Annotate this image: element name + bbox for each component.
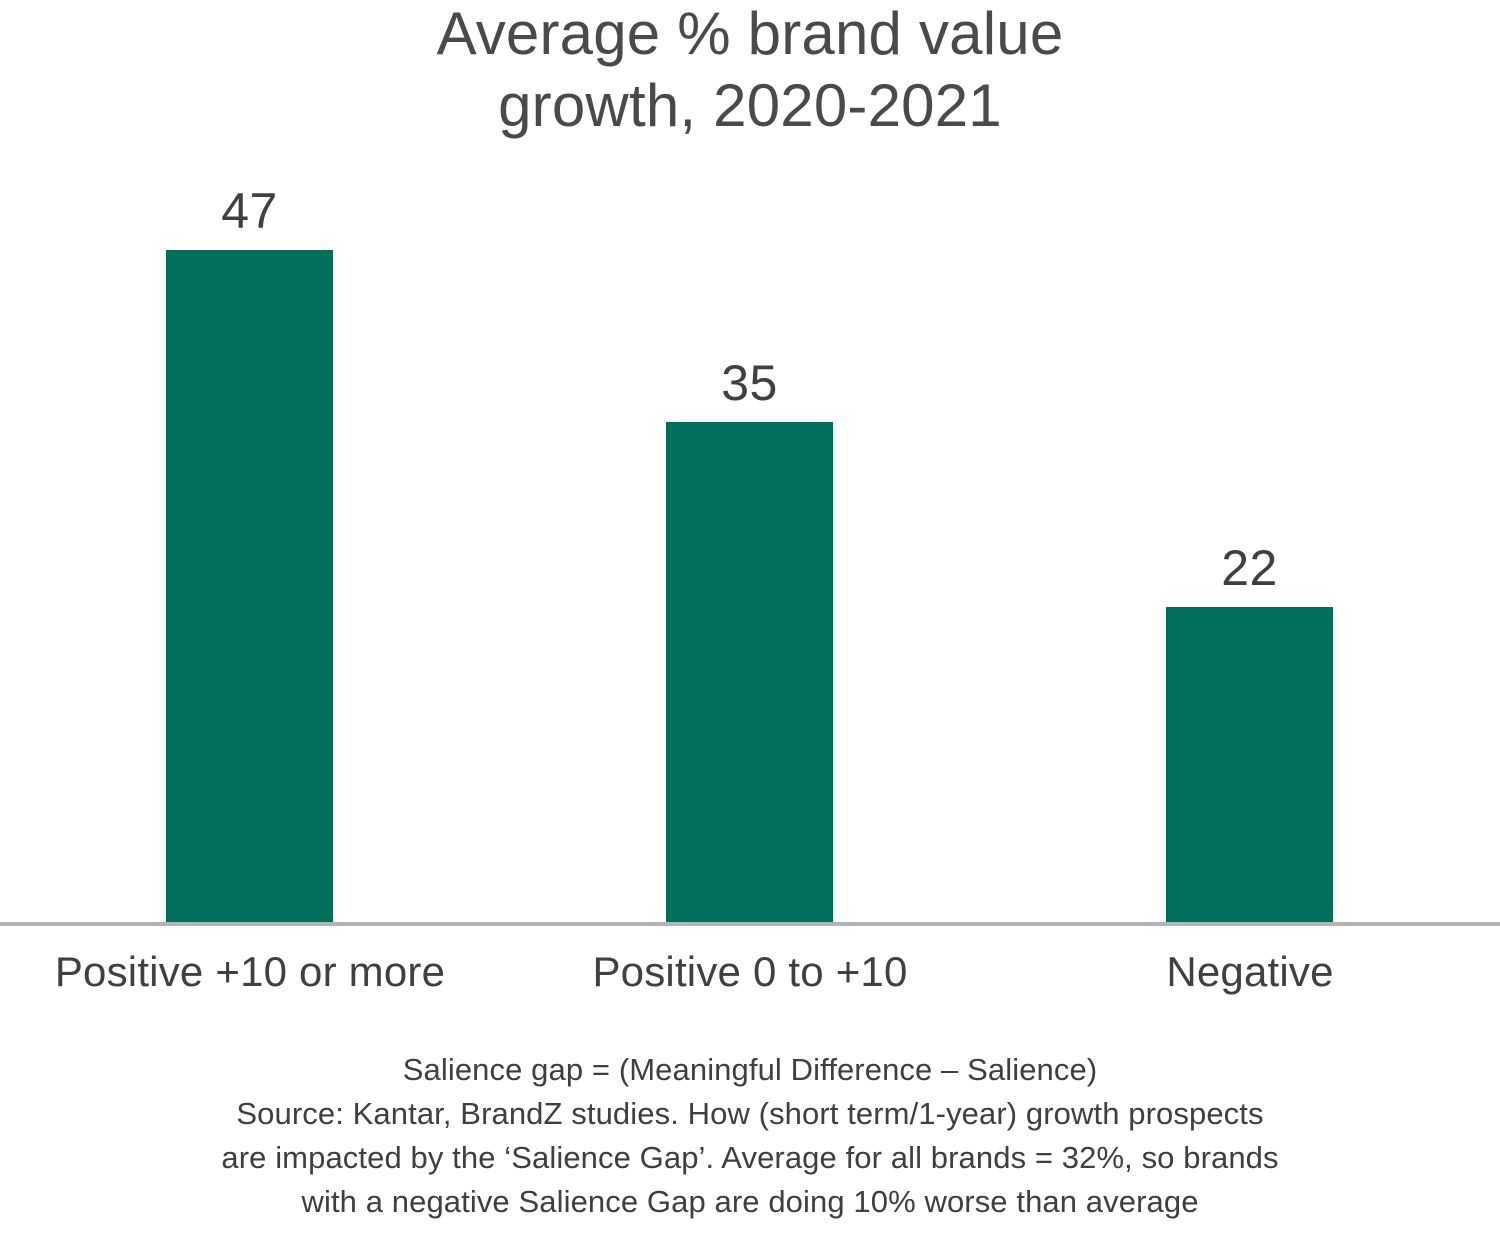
bar-value-label-0: 47 [106, 182, 393, 240]
footnote-block: Salience gap = (Meaningful Difference – … [0, 1048, 1500, 1224]
bar-rect-0[interactable] [166, 250, 333, 922]
bar-rect-2[interactable] [1166, 607, 1333, 922]
plot-area: 47 35 22 [0, 150, 1500, 926]
footnote-line-1: Salience gap = (Meaningful Difference – … [0, 1048, 1500, 1092]
bar-group-2[interactable]: 22 [1166, 607, 1333, 922]
x-axis-category-labels: Positive +10 or more Positive 0 to +10 N… [0, 948, 1500, 1008]
bar-value-label-1: 35 [606, 354, 893, 412]
footnote-line-4: with a negative Salience Gap are doing 1… [0, 1180, 1500, 1224]
bar-rect-1[interactable] [666, 422, 833, 922]
x-axis-label-2: Negative [1000, 948, 1500, 996]
chart-canvas: Average % brand value growth, 2020-2021 … [0, 0, 1500, 1236]
x-axis-label-1: Positive 0 to +10 [500, 948, 1000, 996]
x-axis-line [0, 922, 1500, 926]
bar-value-label-2: 22 [1106, 539, 1393, 597]
x-axis-label-0: Positive +10 or more [0, 948, 500, 996]
bar-group-1[interactable]: 35 [666, 422, 833, 922]
footnote-line-2: Source: Kantar, BrandZ studies. How (sho… [0, 1092, 1500, 1136]
chart-title: Average % brand value growth, 2020-2021 [0, 0, 1500, 142]
footnote-line-3: are impacted by the ‘Salience Gap’. Aver… [0, 1136, 1500, 1180]
bar-group-0[interactable]: 47 [166, 250, 333, 922]
